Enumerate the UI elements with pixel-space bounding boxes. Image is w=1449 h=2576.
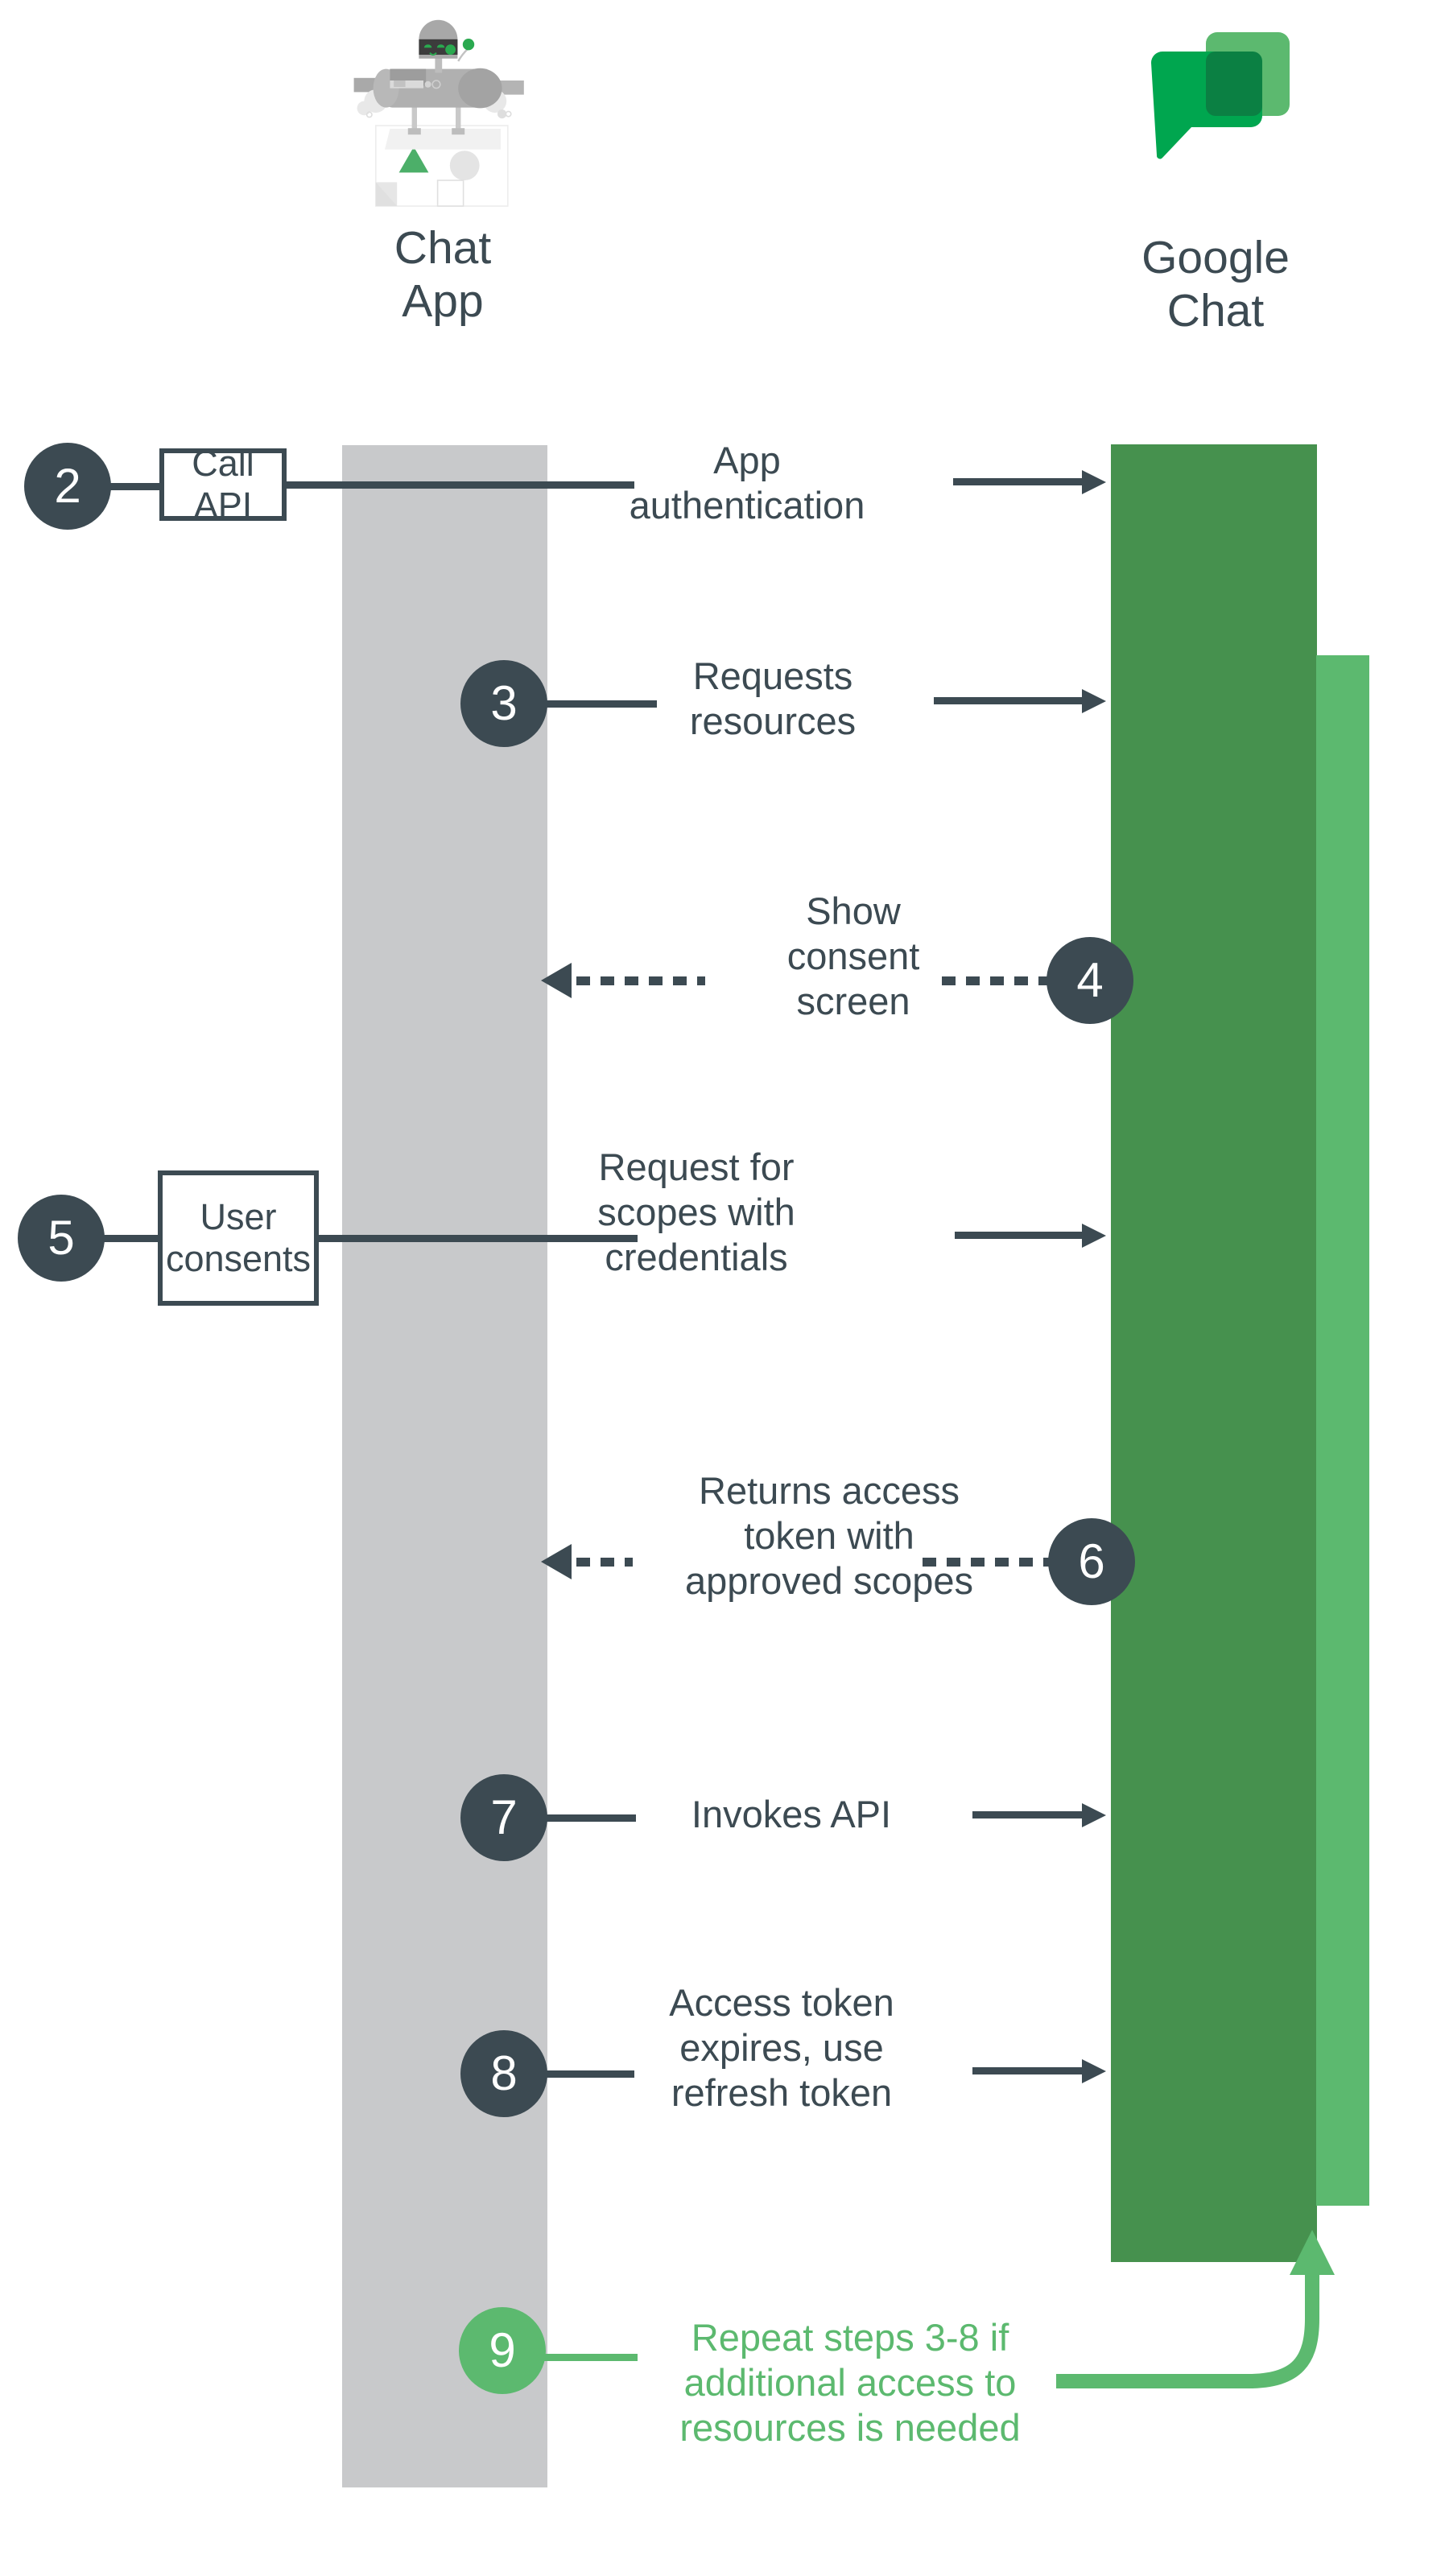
actor-google-chat-label-line2: Chat	[990, 284, 1441, 337]
message-label-step-9-line1: Repeat steps 3-8 if	[617, 2315, 1084, 2360]
message-label-step-5-line3: credentials	[491, 1235, 902, 1280]
step-badge-8[interactable]: 8	[460, 2030, 547, 2117]
action-box-call-api: Call API	[159, 448, 287, 521]
message-label-step-2-line2: authentication	[578, 483, 916, 528]
message-label-step-6: Returns access token with approved scope…	[620, 1468, 1038, 1604]
lifeline-google-chat-dark	[1111, 444, 1317, 2262]
action-box-user-consents: User consents	[158, 1170, 319, 1306]
google-chat-logo-icon	[990, 18, 1441, 231]
arrow-step-8	[972, 2059, 1106, 2083]
message-label-step-8-line2: expires, use	[602, 2025, 961, 2070]
actor-google-chat-label-line1: Google	[990, 231, 1441, 284]
robot-illustration-icon	[314, 8, 572, 217]
message-label-step-2: App authentication	[578, 438, 916, 528]
sequence-diagram: Chat App Google Chat 2 Call API App auth…	[0, 0, 1449, 2576]
step-number-7: 7	[490, 1794, 517, 1842]
step-number-2: 2	[54, 462, 80, 510]
step-number-4: 4	[1076, 956, 1103, 1005]
message-label-step-9: Repeat steps 3-8 if additional access to…	[617, 2315, 1084, 2450]
arrow-step-6	[541, 1544, 576, 1579]
actor-chat-app-label-line1: Chat	[233, 221, 652, 275]
message-label-step-7-line1: Invokes API	[644, 1792, 939, 1837]
action-box-user-consents-line2: consents	[166, 1238, 311, 1280]
step-badge-4[interactable]: 4	[1046, 937, 1133, 1024]
message-label-step-9-line3: resources is needed	[617, 2405, 1084, 2450]
message-label-step-3-line1: Requests	[612, 654, 934, 699]
chat-app-robot-icon	[233, 8, 652, 221]
step-badge-3[interactable]: 3	[460, 660, 547, 747]
actor-chat-app: Chat App	[233, 8, 652, 328]
step-badge-6[interactable]: 6	[1048, 1518, 1135, 1605]
connector-step-5-to-box	[100, 1235, 161, 1242]
connector-step-2-to-box	[106, 483, 163, 490]
message-label-step-5-line2: scopes with	[491, 1190, 902, 1235]
step-badge-9[interactable]: 9	[459, 2307, 546, 2394]
action-box-user-consents-line1: User	[200, 1196, 276, 1238]
message-label-step-4: Show consent screen	[692, 889, 1014, 1024]
step-badge-5[interactable]: 5	[18, 1195, 105, 1282]
message-label-step-6-line2: token with	[620, 1513, 1038, 1558]
arrow-step-3	[934, 689, 1106, 713]
message-label-step-5-line1: Request for	[491, 1145, 902, 1190]
message-label-step-4-line2: consent	[692, 934, 1014, 979]
message-label-step-6-line3: approved scopes	[620, 1558, 1038, 1604]
message-label-step-9-line2: additional access to	[617, 2360, 1084, 2405]
message-label-step-8-line1: Access token	[602, 1980, 961, 2025]
action-box-call-api-label: Call API	[164, 443, 282, 526]
google-chat-bubbles-icon	[1135, 18, 1296, 179]
message-label-step-8-line3: refresh token	[602, 2070, 961, 2116]
message-label-step-4-line1: Show	[692, 889, 1014, 934]
step-number-9: 9	[489, 2326, 515, 2375]
actor-google-chat: Google Chat	[990, 8, 1441, 337]
step-number-8: 8	[490, 2050, 517, 2098]
message-label-step-2-line1: App	[578, 438, 916, 483]
message-label-step-6-line1: Returns access	[620, 1468, 1038, 1513]
message-label-step-8: Access token expires, use refresh token	[602, 1980, 961, 2116]
step-number-6: 6	[1078, 1538, 1104, 1586]
step-badge-2[interactable]: 2	[24, 443, 111, 530]
arrow-step-4	[541, 963, 576, 998]
step-number-3: 3	[490, 679, 517, 728]
message-label-step-3-line2: resources	[612, 699, 934, 744]
actor-chat-app-label-line2: App	[233, 275, 652, 328]
lifeline-google-chat-light	[1316, 655, 1369, 2206]
arrow-step-5	[955, 1224, 1106, 1248]
arrow-step-7	[972, 1803, 1106, 1827]
arrow-step-2	[953, 470, 1106, 494]
lifeline-chat-app	[342, 445, 547, 2487]
message-label-step-4-line3: screen	[692, 979, 1014, 1024]
step-number-5: 5	[47, 1214, 74, 1262]
message-label-step-7: Invokes API	[644, 1792, 939, 1837]
loop-arrow-step-9	[1046, 2222, 1385, 2407]
dotted-line-step-4-left	[576, 976, 705, 985]
message-label-step-3: Requests resources	[612, 654, 934, 744]
step-badge-7[interactable]: 7	[460, 1774, 547, 1861]
message-label-step-5: Request for scopes with credentials	[491, 1145, 902, 1280]
connector-step-7-line	[544, 1814, 636, 1822]
